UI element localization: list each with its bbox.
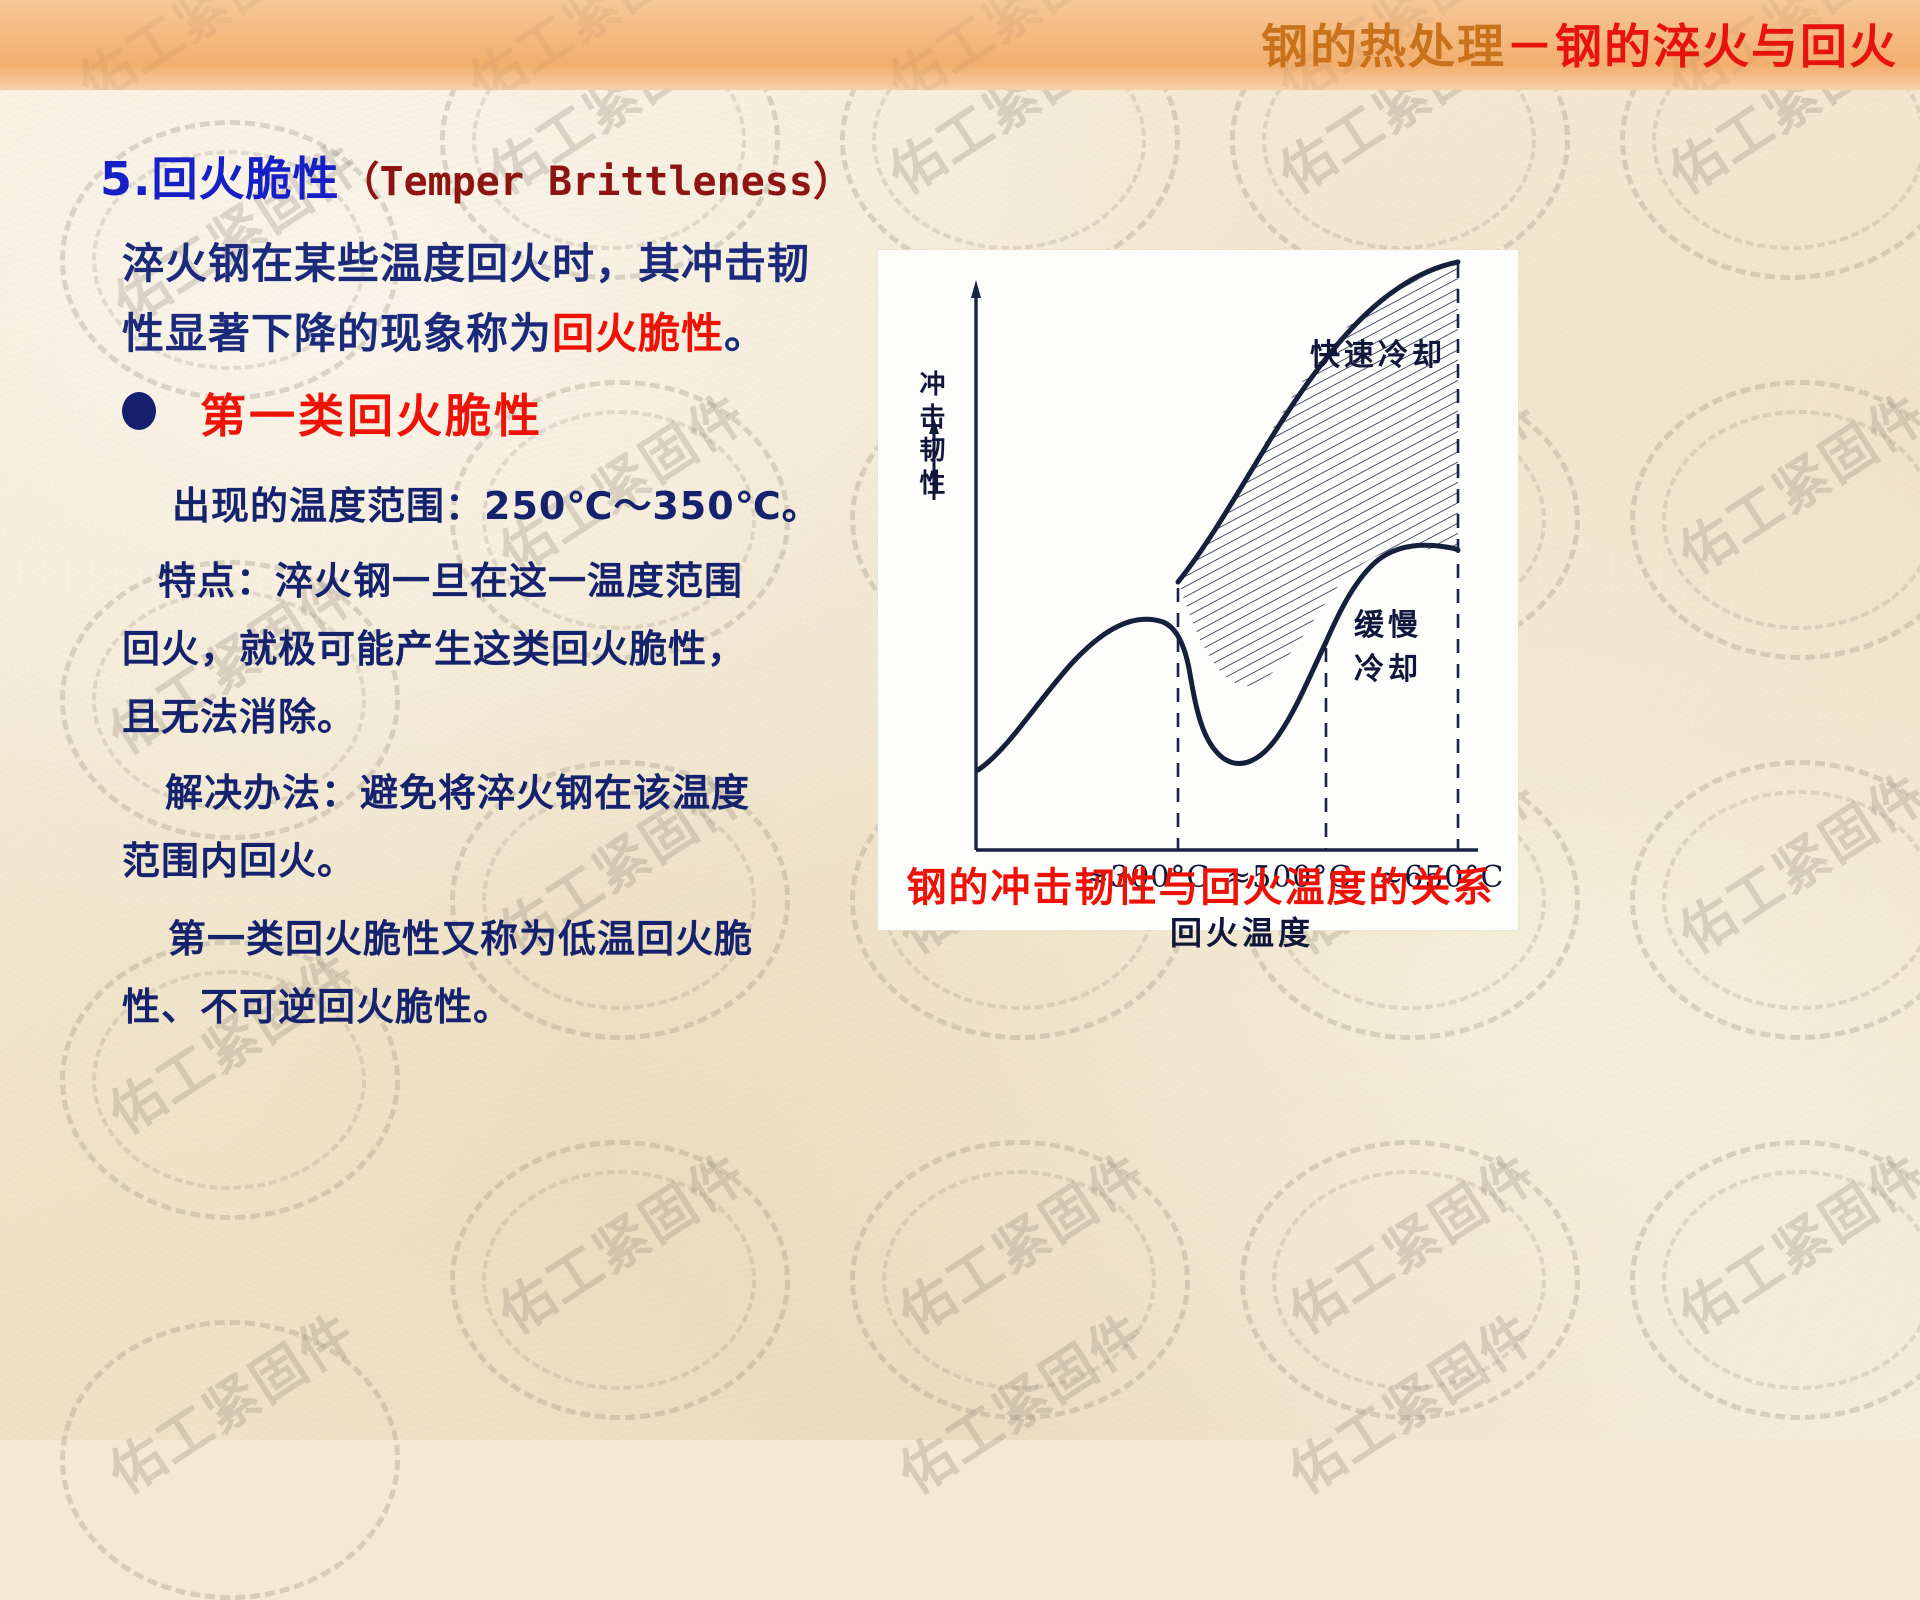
section-title-en: （Temper Brittleness）: [339, 159, 852, 205]
section-heading: 5.回火脆性（Temper Brittleness）: [100, 143, 853, 209]
x-axis-label: 回火温度: [1170, 908, 1314, 954]
annotation-slow-cooling-line1: 缓慢: [1354, 600, 1422, 644]
watermark-text: 佑工紧固件: [451, 0, 729, 90]
page-title-topic: 钢的热处理: [1261, 20, 1506, 75]
page-title-subtopic: －钢的淬火与回火: [1506, 20, 1898, 75]
y-axis-label: 冲击韧性: [912, 370, 949, 502]
solution-line-2: 范围内回火。: [122, 830, 356, 885]
intro-paragraph-line-1: 淬火钢在某些温度回火时，其冲击韧: [122, 230, 810, 291]
intro-text-suffix: 。: [724, 309, 767, 358]
bullet-dot-icon: [122, 392, 156, 430]
page-title: 钢的热处理－钢的淬火与回火: [1261, 8, 1898, 77]
annotation-slow-cooling-line2: 冷却: [1354, 644, 1422, 688]
annotation-fast-cooling: 快速冷却: [1310, 330, 1446, 374]
slide-body: 5.回火脆性（Temper Brittleness） 淬火钢在某些温度回火时，其…: [0, 90, 900, 1440]
feature-line-3: 且无法消除。: [122, 686, 356, 741]
solution-line-1: 解决办法：避免将淬火钢在该温度: [165, 762, 750, 817]
intro-text-prefix: 性显著下降的现象称为: [122, 309, 552, 358]
chart-panel: 冲击韧性 快速冷却 缓慢 冷却 ≈300°C ≈500°C ≈650°C 回火温…: [878, 250, 1518, 930]
bullet-label: 第一类回火脆性: [200, 380, 543, 446]
temperature-range-line: 出现的温度范围：250℃～350℃。: [172, 475, 821, 530]
intro-paragraph-line-2: 性显著下降的现象称为回火脆性。: [122, 300, 767, 361]
watermark-text: 佑工紧固件: [61, 0, 339, 90]
section-number: 5.: [100, 152, 151, 206]
alias-line-1: 第一类回火脆性又称为低温回火脆: [168, 908, 753, 963]
section-title-cn: 回火脆性: [151, 152, 339, 206]
page-header: 佑工紧固件 佑工紧固件 佑工紧固件 佑工紧固件 佑工紧固件 钢的热处理－钢的淬火…: [0, 0, 1920, 90]
chart-caption: 钢的冲击韧性与回火温度的关系: [878, 855, 1523, 913]
y-axis-arrow: [971, 280, 981, 298]
feature-line-2: 回火，就极可能产生这类回火脆性，: [122, 618, 746, 673]
watermark-text: 佑工紧固件: [871, 0, 1149, 90]
alias-line-2: 性、不可逆回火脆性。: [122, 976, 512, 1031]
feature-line-1: 特点：淬火钢一旦在这一温度范围: [158, 550, 743, 605]
intro-text-highlight: 回火脆性: [552, 309, 724, 358]
